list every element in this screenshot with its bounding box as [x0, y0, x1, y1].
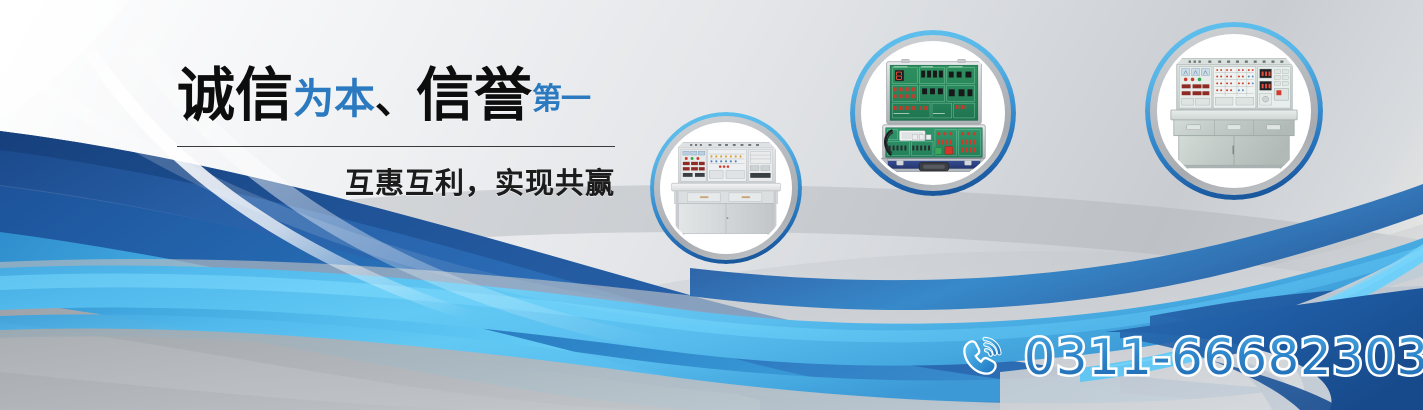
contact-phone-row[interactable]: 0311-66682303 0311-66682303 — [958, 325, 1423, 389]
promo-banner: 诚信为本、信誉第一 互惠互利，实现共赢 — [0, 0, 1423, 410]
product-circle-2[interactable] — [850, 30, 1016, 196]
product-circle-3[interactable] — [1145, 22, 1323, 200]
headline-block: 诚信为本、信誉第一 — [177, 66, 617, 124]
phone-call-icon — [958, 331, 1010, 383]
phone-number-wrap: 0311-66682303 0311-66682303 — [1024, 329, 1423, 386]
headline-part1: 诚信 — [177, 61, 293, 129]
electrical-training-workbench-icon — [663, 125, 789, 251]
headline-part3: 信誉 — [416, 61, 532, 129]
headline-divider — [177, 146, 615, 147]
headline-part4: 第一 — [532, 82, 590, 117]
headline: 诚信为本、信誉第一 — [177, 66, 617, 124]
headline-separator: 、 — [375, 75, 416, 123]
subtitle: 互惠互利，实现共赢 — [177, 160, 615, 202]
motor-repair-training-bench-icon — [1160, 37, 1308, 185]
headline-part2: 为本 — [293, 75, 375, 123]
portable-electronics-trainer-case-icon — [864, 44, 1002, 182]
product-circle-1[interactable] — [650, 112, 802, 264]
phone-number[interactable]: 0311-66682303 — [1024, 329, 1423, 386]
